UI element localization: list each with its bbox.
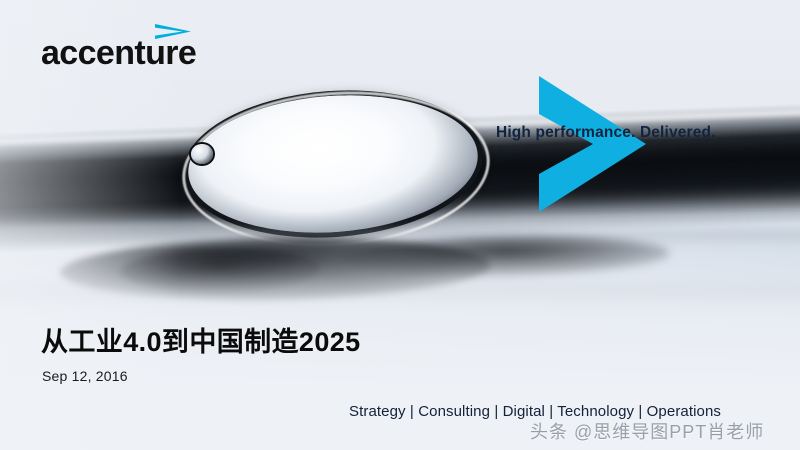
watermark-text: 头条 @思维导图PPT肖老师 (530, 418, 764, 444)
slide-date: Sep 12, 2016 (42, 368, 128, 384)
slide-title: 从工业4.0到中国制造2025 (41, 320, 361, 359)
accenture-wordmark: accenture (41, 36, 196, 70)
presentation-title-slide: accenture High performance. Delivered. 从… (0, 0, 800, 450)
brand-tagline: High performance. Delivered. (496, 124, 716, 142)
large-cyan-chevron-icon (533, 70, 648, 218)
photo-small-bubble (191, 144, 213, 164)
accenture-logo: accenture (41, 22, 271, 70)
